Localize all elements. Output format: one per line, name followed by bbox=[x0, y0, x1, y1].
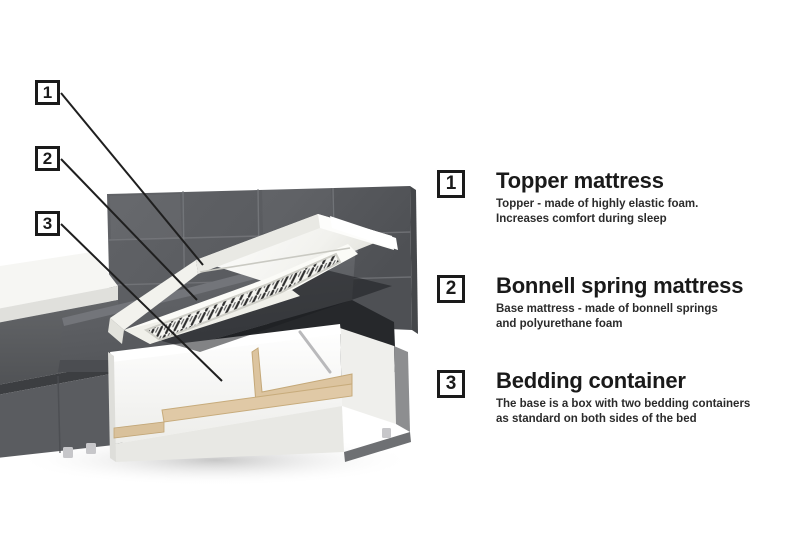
legend-list: 1 Topper mattress Topper - made of highl… bbox=[437, 0, 800, 533]
legend-title-2: Bonnell spring mattress bbox=[496, 273, 796, 299]
bed-cutaway-drawing bbox=[0, 0, 440, 533]
legend-text-block-3: Bedding container The base is a box with… bbox=[496, 368, 796, 426]
legend-text-block-1: Topper mattress Topper - made of highly … bbox=[496, 168, 796, 226]
bed-illustration: 1 2 3 bbox=[0, 0, 440, 533]
infographic-page: 1 2 3 1 Topper mattress Topper - made of… bbox=[0, 0, 800, 533]
callout-box-1: 1 bbox=[35, 80, 60, 105]
legend-text-block-2: Bonnell spring mattress Base mattress - … bbox=[496, 273, 796, 331]
callout-box-2: 2 bbox=[35, 146, 60, 171]
legend-badge-1: 1 bbox=[437, 170, 465, 198]
legend-badge-2: 2 bbox=[437, 275, 465, 303]
callout-box-3: 3 bbox=[35, 211, 60, 236]
legend-description-2: Base mattress - made of bonnell springs … bbox=[496, 302, 796, 331]
legend-description-1: Topper - made of highly elastic foam. In… bbox=[496, 197, 796, 226]
legend-description-3: The base is a box with two bedding conta… bbox=[496, 397, 796, 426]
legend-title-1: Topper mattress bbox=[496, 168, 796, 194]
legend-title-3: Bedding container bbox=[496, 368, 796, 394]
legend-badge-3: 3 bbox=[437, 370, 465, 398]
